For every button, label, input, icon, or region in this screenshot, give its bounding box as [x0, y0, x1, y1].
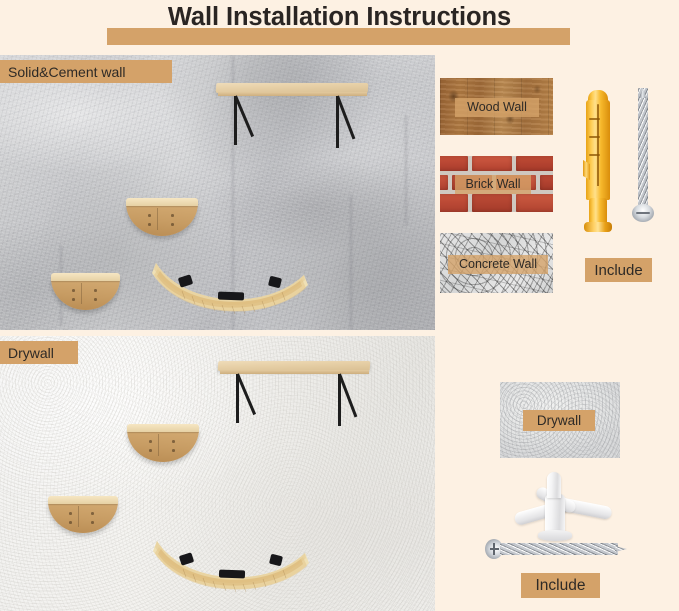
photo-solid-cement-wall: Solid&Cement wall [0, 55, 435, 330]
label-include-bottom: Include [521, 573, 600, 598]
label-drywall-swatch: Drywall [523, 410, 595, 431]
white-toggle-anchor-icon [505, 470, 615, 546]
silver-screw-horizontal-icon [485, 538, 627, 560]
page-title: Wall Installation Instructions [0, 3, 679, 32]
cat-curved-bridge [152, 261, 312, 321]
bridge-shape-icon [152, 261, 312, 321]
photo-drywall: Drywall [0, 336, 435, 611]
silver-screw-vertical-icon [632, 88, 654, 240]
wall-shelf [218, 361, 378, 427]
wall-shelf [216, 83, 376, 149]
bridge-shape-icon [153, 539, 313, 599]
cat-step-lower [48, 496, 118, 533]
label-brick-wall: Brick Wall [455, 175, 531, 194]
cat-step-upper [127, 424, 199, 462]
label-include-top: Include [585, 258, 652, 282]
cat-step-upper [126, 198, 198, 236]
label-drywall-photo: Drywall [0, 341, 78, 364]
label-concrete-wall: Concrete Wall [448, 255, 548, 274]
page-header: Wall Installation Instructions [0, 0, 679, 55]
label-solid-cement-wall: Solid&Cement wall [0, 60, 172, 83]
yellow-wall-anchor-icon [581, 90, 615, 238]
cat-step-lower [51, 273, 120, 310]
wall-installation-instructions-page: Wall Installation Instructions [0, 0, 679, 611]
cat-curved-bridge [153, 539, 313, 599]
label-wood-wall: Wood Wall [455, 98, 539, 117]
